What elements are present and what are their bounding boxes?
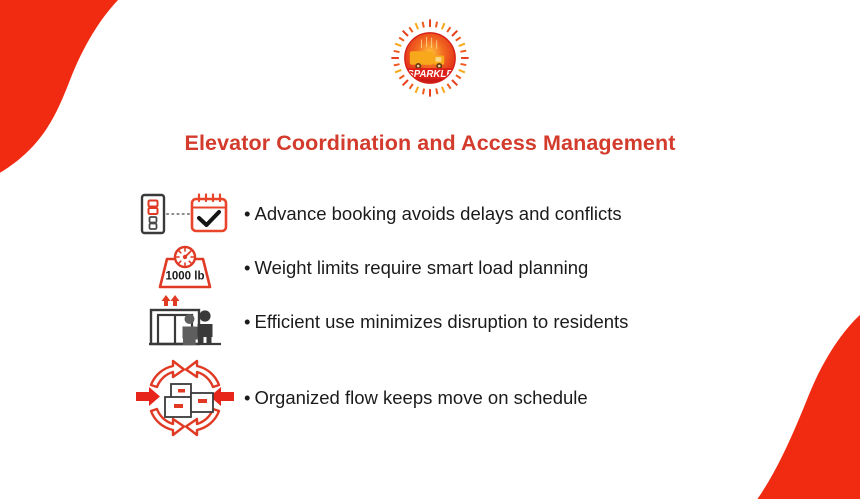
page-title: Elevator Coordination and Access Managem… [0, 131, 860, 156]
weight-scale-value: 1000 lb [166, 271, 205, 283]
list-item: 1000 lb •Weight limits require smart loa… [132, 242, 752, 294]
bullet-marker: • [244, 256, 250, 279]
elevator-doors-with-residents-icon [132, 293, 238, 351]
bullet-list: •Advance booking avoids delays and confl… [132, 186, 752, 446]
bullet-marker: • [244, 386, 250, 409]
list-item-text: •Organized flow keeps move on schedule [238, 386, 588, 409]
bullet-marker: • [244, 310, 250, 333]
list-item-text: •Advance booking avoids delays and confl… [238, 202, 622, 225]
list-item-text: •Weight limits require smart load planni… [238, 256, 588, 279]
list-item-label: Efficient use minimizes disruption to re… [254, 311, 628, 332]
bullet-marker: • [244, 202, 250, 225]
weight-scale-limit-icon: 1000 lb [132, 243, 238, 293]
slide-canvas: SPARKLE Elevator Coordination and Access… [0, 0, 860, 499]
list-item-label: Organized flow keeps move on schedule [254, 387, 587, 408]
logo-container: SPARKLE [0, 16, 860, 100]
elevator-panel-calendar-booking-icon [132, 191, 238, 237]
list-item-label: Weight limits require smart load plannin… [254, 257, 588, 278]
list-item-text: •Efficient use minimizes disruption to r… [238, 310, 628, 333]
list-item: •Advance booking avoids delays and confl… [132, 186, 752, 242]
list-item-label: Advance booking avoids delays and confli… [254, 203, 621, 224]
boxes-circular-flow-arrows-icon [132, 351, 238, 445]
sparkle-moving-truck-badge-icon: SPARKLE [388, 16, 472, 100]
list-item: •Efficient use minimizes disruption to r… [132, 294, 752, 350]
list-item: •Organized flow keeps move on schedule [132, 350, 752, 446]
